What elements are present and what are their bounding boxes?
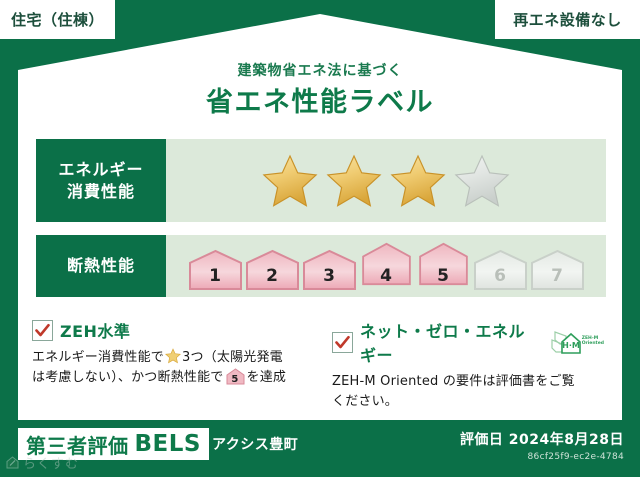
insulation-level-on: 5	[416, 242, 471, 290]
label-subtitle: 建築物省エネ法に基づく	[0, 60, 640, 80]
insulation-level-off: 6	[473, 248, 528, 290]
watermark-label: らくすむ	[23, 453, 79, 472]
insulation-level-number: 5	[416, 266, 471, 286]
zeh-standard-section: ZEH水準 エネルギー消費性能で3つ（太陽光発電 は考慮しない）、かつ断熱性能で…	[32, 318, 322, 412]
net-zero-energy-heading: ネット・ゼロ・エネルギー H·M ZEH-M Oriented	[332, 318, 604, 366]
insulation-performance-row: 断熱性能 1234567	[36, 235, 606, 297]
inline-house-badge-number: 5	[226, 375, 245, 385]
certification-notes: ZEH水準 エネルギー消費性能で3つ（太陽光発電 は考慮しない）、かつ断熱性能で…	[32, 318, 612, 412]
insulation-level-scale: 1234567	[188, 242, 585, 290]
inline-star-icon	[165, 348, 181, 364]
zeh-m-oriented-logo: H·M ZEH-M Oriented	[549, 329, 604, 355]
insulation-level-on: 3	[302, 248, 357, 290]
insulation-level-off: 7	[530, 248, 585, 290]
zeh-body-part4: を達成	[247, 370, 287, 385]
insulation-level-number: 1	[188, 266, 243, 286]
insulation-performance-label: 断熱性能	[36, 235, 166, 297]
zeh-body-part3: は考慮しない）、かつ断熱性能で	[32, 370, 224, 385]
property-name: アクシス豊町	[212, 434, 298, 454]
energy-label-card: 住宅（住棟） 再エネ設備なし 建築物省エネ法に基づく 省エネ性能ラベル エネルギ…	[0, 0, 640, 477]
tag-building-type: 住宅（住棟）	[0, 0, 115, 39]
energy-performance-value	[166, 139, 606, 222]
insulation-level-on: 4	[359, 242, 414, 290]
zeh-standard-checkbox	[32, 320, 53, 341]
inline-house-badge-icon: 5	[226, 368, 245, 385]
zeh-body-part1: エネルギー消費性能で	[32, 350, 164, 365]
evaluation-date: 評価日 2024年8月28日	[460, 429, 624, 449]
star-filled-icon	[325, 153, 383, 209]
watermark-house-icon	[6, 456, 19, 469]
svg-text:H·M: H·M	[562, 341, 580, 350]
insulation-level-number: 2	[245, 266, 300, 286]
net-zero-energy-checkbox	[332, 332, 353, 353]
insulation-level-number: 4	[359, 266, 414, 286]
energy-performance-row: エネルギー 消費性能	[36, 139, 606, 222]
insulation-level-number: 6	[473, 266, 528, 286]
footer-bar: 第三者評価 BELS アクシス豊町 評価日 2024年8月28日 86cf25f…	[0, 420, 640, 477]
zeh-m-logo-caption-2: Oriented	[582, 342, 604, 347]
net-zero-energy-section: ネット・ゼロ・エネルギー H·M ZEH-M Oriented ZEH-M Or…	[322, 318, 612, 412]
net-zero-energy-body: ZEH-M Oriented の要件は評価書をご覧 ください。	[332, 372, 604, 412]
net-zero-body-line1: ZEH-M Oriented の要件は評価書をご覧	[332, 372, 604, 392]
energy-label-line1: エネルギー	[58, 159, 143, 181]
star-rating	[261, 153, 511, 209]
evaluation-info: 評価日 2024年8月28日 86cf25f9-ec2e-4784	[460, 429, 624, 462]
zeh-standard-heading: ZEH水準	[32, 318, 314, 342]
star-empty-icon	[453, 153, 511, 209]
star-filled-icon	[389, 153, 447, 209]
label-title: 省エネ性能ラベル	[0, 80, 640, 119]
tag-renewable-energy-label: 再エネ設備なし	[513, 9, 622, 30]
watermark: らくすむ	[6, 453, 79, 472]
zeh-body-part2: 3つ（太陽光発電	[182, 350, 283, 365]
insulation-level-number: 3	[302, 266, 357, 286]
net-zero-energy-title: ネット・ゼロ・エネルギー	[360, 318, 536, 366]
tag-building-type-label: 住宅（住棟）	[11, 9, 104, 30]
evaluation-id: 86cf25f9-ec2e-4784	[460, 452, 624, 462]
energy-label-line2: 消費性能	[67, 181, 135, 203]
tag-renewable-energy: 再エネ設備なし	[495, 0, 640, 39]
energy-performance-label: エネルギー 消費性能	[36, 139, 166, 222]
net-zero-body-line2: ください。	[332, 392, 604, 412]
star-filled-icon	[261, 153, 319, 209]
zeh-standard-title: ZEH水準	[60, 318, 130, 342]
insulation-level-on: 2	[245, 248, 300, 290]
insulation-level-number: 7	[530, 266, 585, 286]
insulation-label-line1: 断熱性能	[67, 255, 135, 277]
zeh-standard-body: エネルギー消費性能で3つ（太陽光発電 は考慮しない）、かつ断熱性能で5を達成	[32, 348, 314, 388]
bels-en-label: BELS	[135, 431, 201, 457]
insulation-performance-value: 1234567	[166, 235, 606, 297]
insulation-level-on: 1	[188, 248, 243, 290]
